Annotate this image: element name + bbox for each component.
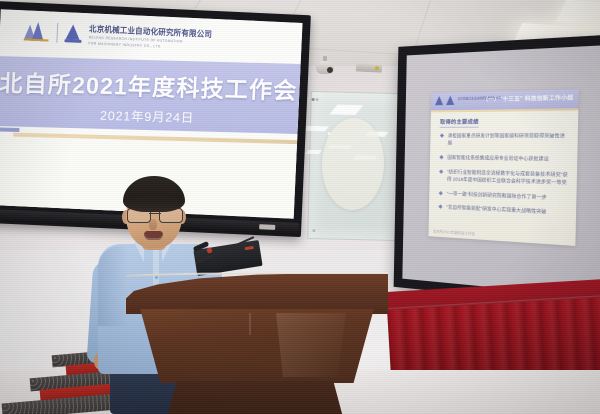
- wooden-lectern: [126, 255, 388, 414]
- bullet-icon: [439, 191, 443, 195]
- lectern-base: [166, 381, 344, 414]
- bullet-text: 承担国家重点研发计划等国家级科研项目取得突破性进展: [448, 132, 570, 148]
- list-item: "北自所智能装配"研发中心实现重大战略性突破: [439, 203, 567, 217]
- slide-header-band: 北京机械工业自动化研究所有限公司 （一）"十三五" 科技创新工作小结: [431, 89, 578, 110]
- list-item: 承担国家重点研发计划等国家级科研项目取得突破性进展: [441, 132, 570, 148]
- lectern-top: [126, 273, 388, 314]
- air-vent-icon: [356, 63, 382, 72]
- bullet-icon: [440, 155, 444, 159]
- shirt-shading: [98, 246, 128, 326]
- whiteboard-reflection: [329, 105, 363, 115]
- lectern-front-panel: [130, 309, 384, 383]
- whiteboard-reflection: [303, 126, 329, 131]
- lectern-highlight: [276, 313, 346, 377]
- slide-section-heading: 取得的主要成绩: [440, 118, 479, 126]
- sinomach-triangle-logo-icon: [23, 22, 50, 42]
- presenter-mouth: [144, 231, 163, 240]
- glass-whiteboard: [307, 91, 399, 241]
- presenter-hair: [123, 176, 185, 212]
- logo-company-names: 北京机械工业自动化研究所有限公司 BEIJING RESEARCH INSTIT…: [88, 23, 212, 50]
- security-camera-icon: [316, 56, 334, 76]
- slide-header-title: （一）"十三五" 科技创新工作小结: [483, 94, 574, 104]
- list-item: "一带一路"科技创新研究院和国际合作了第一步: [440, 189, 568, 202]
- microphone-indicator-ring: [206, 247, 213, 254]
- slide-logo: RIAMB 北京机械工业自动化研究所有限公司 BEIJING RESEARCH …: [23, 20, 212, 50]
- bullet-text: "纺织行业智能制造全流程数字化与成套装备技术研究"获得 2019年度中国纺织工业…: [447, 168, 569, 187]
- bullet-text: "北自所智能装配"研发中心实现重大战略性突破: [446, 204, 546, 216]
- whiteboard-screw: [312, 229, 315, 232]
- list-item: "纺织行业智能制造全流程数字化与成套装备技术研究"获得 2019年度中国纺织工业…: [440, 167, 569, 186]
- screen-canvas: 北京机械工业自动化研究所有限公司 （一）"十三五" 科技创新工作小结 取得的主要…: [402, 45, 600, 298]
- conference-room-photo: RIAMB 北京机械工业自动化研究所有限公司 BEIJING RESEARCH …: [0, 0, 600, 414]
- bullet-icon: [439, 169, 443, 173]
- whiteboard-screw: [312, 98, 315, 101]
- slide-bullet-list: 承担国家重点研发计划等国家级科研项目取得突破性进展 国家智能化系统集成应用专业验…: [439, 132, 569, 225]
- bullet-text: "一带一路"科技创新研究院和国际合作了第一步: [447, 189, 547, 201]
- whiteboard-screw: [316, 98, 319, 101]
- vent-indicator: [375, 66, 379, 70]
- whiteboard-reflection: [305, 150, 322, 154]
- eyeglass-bridge: [149, 213, 161, 214]
- list-item: 国家智能化系统集成应用专业验证中心获批建设: [440, 153, 569, 163]
- slide-accent-tab: [0, 127, 19, 132]
- secondary-projection-screen: 北京机械工业自动化研究所有限公司 （一）"十三五" 科技创新工作小结 取得的主要…: [394, 34, 600, 309]
- content-slide: 北京机械工业自动化研究所有限公司 （一）"十三五" 科技创新工作小结 取得的主要…: [429, 89, 579, 246]
- whiteboard-screw: [321, 117, 385, 210]
- riamb-triangle-logo-icon: RIAMB: [64, 23, 82, 43]
- logo-divider: [56, 23, 58, 43]
- bullet-icon: [439, 205, 443, 209]
- slide-page-label: 北自所2021年度科技工作会: [433, 228, 475, 236]
- bullet-icon: [440, 133, 444, 137]
- camera-lens: [327, 67, 333, 73]
- bullet-text: 国家智能化系统集成应用专业验证中心获批建设: [447, 153, 549, 162]
